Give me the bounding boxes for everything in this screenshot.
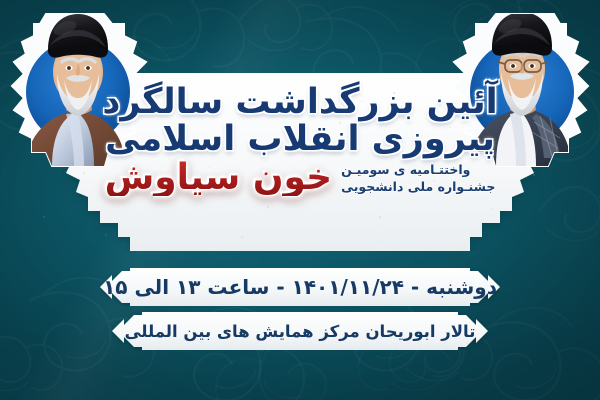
datetime-text: دوشنبه - ۱۴۰۱/۱۱/۲۴ - ساعت ۱۳ الی ۱۵ — [100, 268, 500, 306]
title-line-1: آئین بزرگداشت سالگرد — [102, 85, 497, 120]
subtitle-block: واختتـامیه ی سومیـن جشنـواره ملی دانشجوی… — [341, 162, 495, 194]
title-block: آئین بزرگداشت سالگرد پیروزی انقلاب اسلام… — [130, 78, 470, 246]
event-poster: آئین بزرگداشت سالگرد پیروزی انقلاب اسلام… — [0, 0, 600, 400]
venue-ribbon: تالار ابوریحان مرکز همایش های بین المللی — [112, 312, 488, 350]
title-line-2: پیروزی انقلاب اسلامی — [105, 122, 495, 157]
subtitle-line-1: واختتـامیه ی سومیـن — [341, 162, 470, 178]
datetime-ribbon: دوشنبه - ۱۴۰۱/۱۱/۲۴ - ساعت ۱۳ الی ۱۵ — [100, 268, 500, 306]
title-highlight-khoon-siavash: خون سیاوش — [105, 160, 332, 196]
title-row-highlight: خون سیاوش واختتـامیه ی سومیـن جشنـواره م… — [130, 160, 470, 196]
subtitle-line-2: جشنـواره ملی دانشجویی — [341, 179, 495, 195]
venue-text: تالار ابوریحان مرکز همایش های بین المللی — [112, 312, 488, 350]
